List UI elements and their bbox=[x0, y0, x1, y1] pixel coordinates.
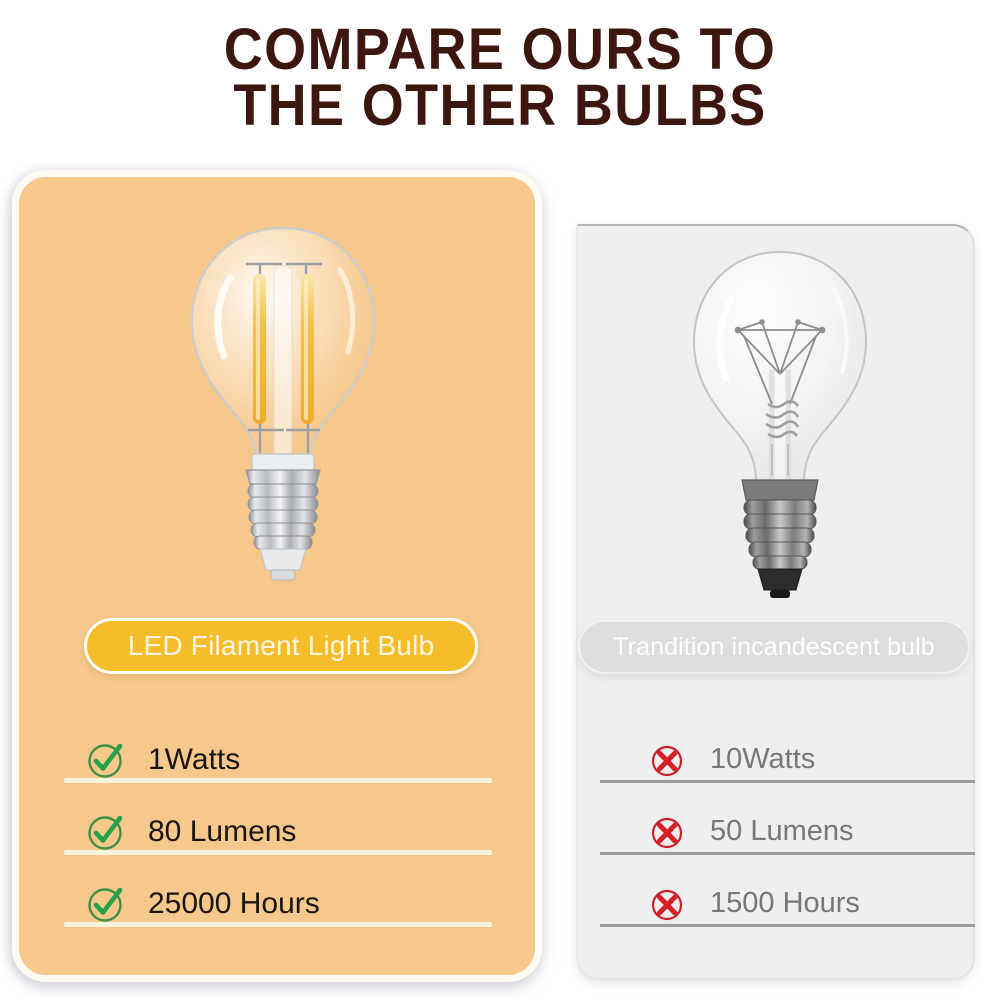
spec-value: 10Watts bbox=[710, 743, 815, 776]
spec-row: 1500 Hours bbox=[600, 880, 975, 927]
led-product-label: LED Filament Light Bulb bbox=[128, 630, 435, 662]
page-title: COMPARE OURS TO THE OTHER BULBS bbox=[35, 22, 965, 134]
check-circle-icon bbox=[86, 812, 126, 852]
divider bbox=[600, 852, 975, 855]
x-circle-icon bbox=[648, 812, 688, 852]
spec-row: 50 Lumens bbox=[600, 808, 975, 855]
divider bbox=[64, 850, 492, 855]
spec-value: 25000 Hours bbox=[148, 887, 320, 921]
x-circle-icon bbox=[648, 740, 688, 780]
incandescent-product-label-pill[interactable]: Trandition incandescent bulb bbox=[578, 620, 970, 674]
spec-value: 1500 Hours bbox=[710, 887, 860, 920]
led-product-label-pill[interactable]: LED Filament Light Bulb bbox=[84, 618, 478, 674]
page-title-line-1: COMPARE OURS TO bbox=[35, 22, 965, 78]
spec-row: 25000 Hours bbox=[64, 880, 492, 927]
divider bbox=[64, 778, 492, 783]
divider bbox=[64, 922, 492, 927]
spec-row: 10Watts bbox=[600, 736, 975, 783]
spec-value: 80 Lumens bbox=[148, 815, 296, 849]
spec-row: 80 Lumens bbox=[64, 808, 492, 855]
incandescent-bulb-image bbox=[676, 244, 884, 604]
divider bbox=[600, 780, 975, 783]
page-title-line-2: THE OTHER BULBS bbox=[35, 78, 965, 134]
check-circle-icon bbox=[86, 740, 126, 780]
incandescent-spec-list: 10Watts 50 Lumens 1500 Hours bbox=[600, 736, 975, 927]
x-circle-icon bbox=[648, 884, 688, 924]
incandescent-product-label: Trandition incandescent bulb bbox=[613, 633, 935, 662]
led-filament-bulb-image bbox=[168, 218, 398, 608]
infographic-canvas: COMPARE OURS TO THE OTHER BULBS bbox=[0, 0, 1000, 1000]
spec-value: 50 Lumens bbox=[710, 815, 854, 848]
spec-value: 1Watts bbox=[148, 743, 240, 777]
led-spec-list: 1Watts 80 Lumens 25000 Hours bbox=[64, 736, 492, 927]
check-circle-icon bbox=[86, 884, 126, 924]
spec-row: 1Watts bbox=[64, 736, 492, 783]
divider bbox=[600, 924, 975, 927]
